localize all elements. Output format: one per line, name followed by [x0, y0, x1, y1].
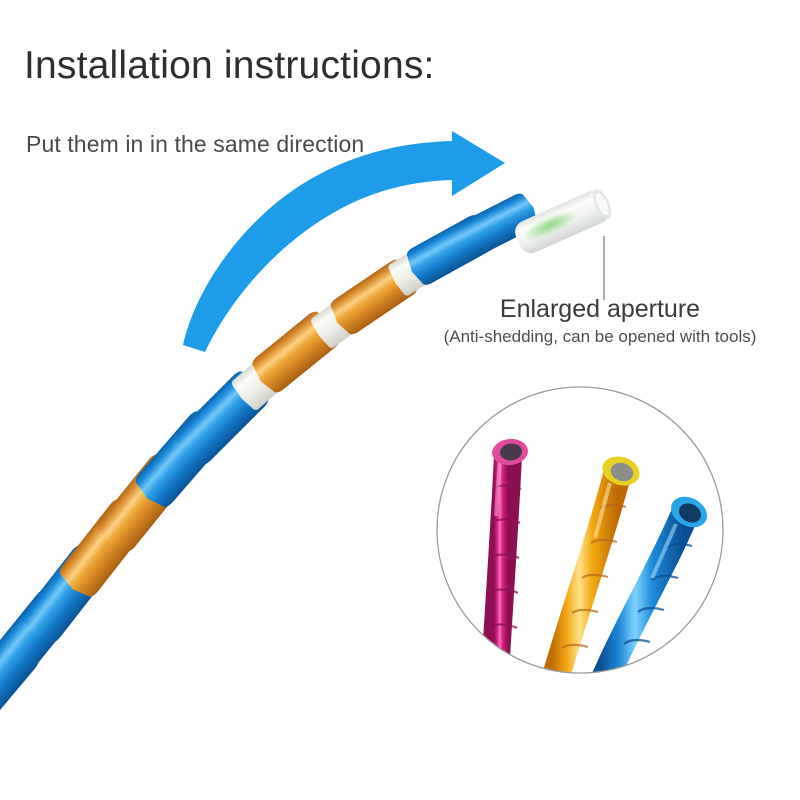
main-cable	[0, 186, 616, 737]
cable-tip	[511, 186, 615, 257]
page-title: Installation instructions:	[24, 44, 435, 88]
infographic-page: Installation instructions: Put them in i…	[0, 0, 800, 800]
callout-subtitle: (Anti-shedding, can be opened with tools…	[350, 327, 800, 347]
instruction-subtitle: Put them in in the same direction	[26, 131, 364, 158]
rod-pink	[491, 437, 530, 690]
callout-block: Enlarged aperture (Anti-shedding, can be…	[350, 295, 800, 347]
detail-circle	[437, 387, 723, 690]
callout-title: Enlarged aperture	[350, 295, 800, 323]
illustration-canvas	[0, 0, 800, 800]
